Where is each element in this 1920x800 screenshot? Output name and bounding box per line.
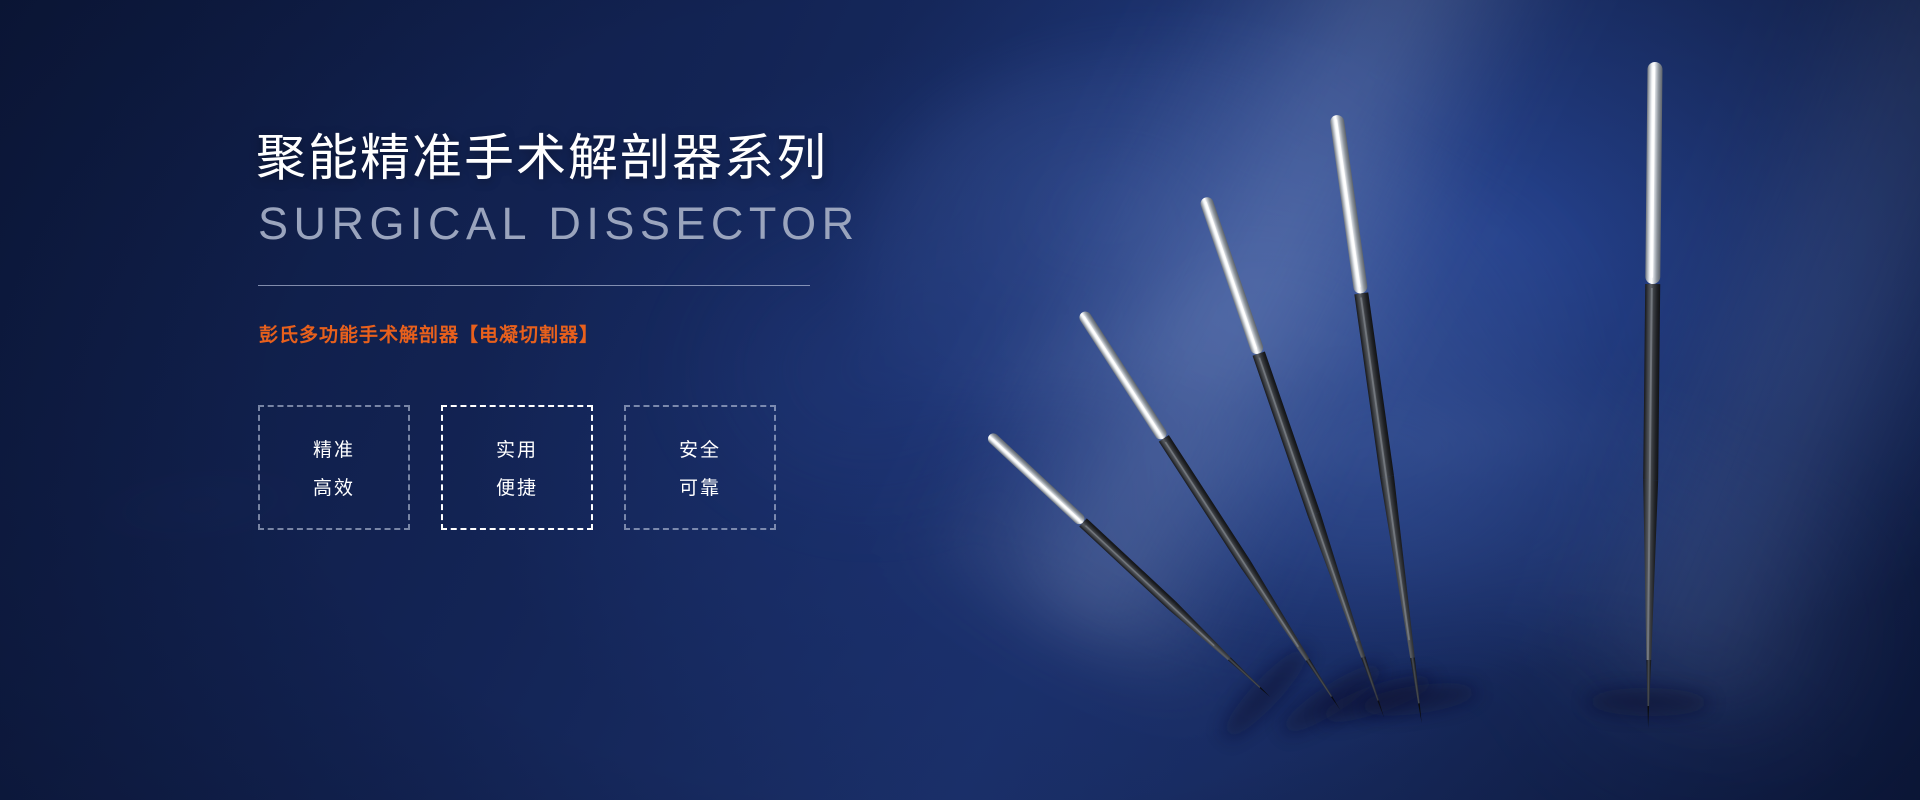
feature-box-practical[interactable]: 实用 便捷: [441, 405, 593, 530]
feature-box-precision[interactable]: 精准 高效: [258, 405, 410, 530]
feature-box-safety[interactable]: 安全 可靠: [624, 405, 776, 530]
page-subtitle-en: SURGICAL DISSECTOR: [258, 198, 956, 250]
feature-line-1: 安全: [679, 435, 721, 462]
page-title: 聚能精准手术解剖器系列: [256, 130, 956, 186]
banner-content: 聚能精准手术解剖器系列 SURGICAL DISSECTOR 彭氏多功能手术解剖…: [256, 130, 956, 530]
feature-box-list: 精准 高效 实用 便捷 安全 可靠: [258, 405, 956, 530]
product-hero-banner: 聚能精准手术解剖器系列 SURGICAL DISSECTOR 彭氏多功能手术解剖…: [0, 0, 1920, 800]
feature-line-1: 精准: [313, 435, 355, 462]
feature-line-1: 实用: [496, 435, 538, 462]
feature-line-2: 便捷: [496, 473, 538, 500]
feature-line-2: 高效: [313, 473, 355, 500]
feature-line-2: 可靠: [679, 473, 721, 500]
product-name-label: 彭氏多功能手术解剖器【电凝切割器】: [259, 320, 956, 347]
divider: [258, 285, 810, 286]
